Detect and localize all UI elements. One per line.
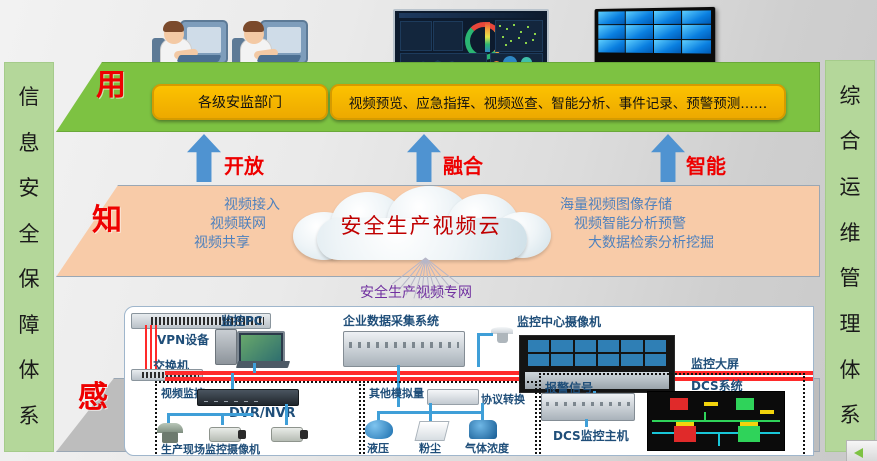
cloud-left-item-0: 视频接入 — [120, 196, 280, 215]
wire-dvr-uplink — [231, 373, 234, 389]
corner-marker — [846, 440, 877, 461]
wire-monitor-pc — [253, 363, 256, 373]
cloud-capabilities-right: 海量视频图像存储 视频智能分析预警 大数据检索分析挖掘 — [560, 196, 800, 253]
label-vpn-device: VPN设备 — [157, 331, 209, 348]
sidebar-right-char-0: 综 — [840, 86, 861, 107]
sidebar-right-char-1: 合 — [840, 131, 861, 152]
cloud-right-item-1: 视频智能分析预警 — [574, 215, 800, 234]
arrow-fusion-icon — [407, 134, 441, 182]
cloud-label-video-cloud: 安全生产视频云 — [287, 210, 555, 240]
wire-center-camera-down — [477, 333, 480, 367]
label-sensor-hydraulic: 液压 — [367, 440, 389, 456]
arrow-label-fusion: 融合 — [443, 150, 483, 179]
box-safety-supervision-departments[interactable]: 各级安监部门 — [152, 84, 328, 120]
sidebar-left-char-1: 息 — [19, 133, 40, 154]
operator-illustration-1 — [152, 14, 224, 66]
label-sensor-dust: 粉尘 — [419, 440, 441, 456]
cloud-capabilities-left: 视频接入 视频联网 视频共享 — [120, 196, 280, 253]
layer-tag-use: 用 — [96, 60, 126, 104]
operator-illustration-2 — [232, 14, 304, 66]
wire-camera-3 — [285, 404, 288, 425]
label-site-cameras: 生产现场监控摄像机 — [161, 441, 260, 456]
cloud-left-item-2: 视频共享 — [120, 234, 250, 253]
dcs-pipe — [652, 420, 780, 422]
wire-sensor-2 — [429, 403, 432, 423]
protocol-converter-icon — [427, 389, 479, 405]
sidebar-right-char-7: 系 — [840, 405, 861, 426]
dashboard-titlebar — [399, 13, 543, 18]
label-enterprise-collector: 企业数据采集系统 — [343, 312, 439, 329]
operator-hair — [243, 21, 264, 32]
center-camera-icon — [491, 327, 513, 343]
sidebar-left-char-2: 安 — [19, 178, 40, 199]
arrow-label-intelligent: 智能 — [686, 150, 726, 179]
layer-tag-know: 知 — [92, 195, 122, 239]
cloud-left-item-1: 视频联网 — [120, 215, 266, 234]
label-center-camera: 监控中心摄像机 — [517, 313, 601, 330]
operator-hair — [163, 21, 184, 32]
sidebar-left-char-3: 全 — [19, 224, 40, 245]
enterprise-collector-server-icon — [343, 331, 465, 367]
red-trunk-line — [150, 325, 152, 371]
play-triangle-icon — [854, 448, 863, 458]
dashboard-heatmap-points — [497, 22, 539, 48]
dcs-tag — [704, 402, 718, 406]
dashboard-table-panel-right — [433, 21, 463, 51]
sidebar-right-char-6: 体 — [840, 360, 861, 381]
label-protocol-converter: 协议转换 — [481, 391, 525, 407]
label-monitor-pc: 监控PC — [221, 312, 263, 329]
sidebar-right-char-5: 理 — [840, 314, 861, 335]
dcs-system-screenshot — [647, 391, 785, 451]
dcs-unit-green — [738, 426, 760, 442]
dome-camera-icon — [157, 423, 183, 443]
cloud-right-item-2: 大数据检索分析挖掘 — [588, 234, 800, 253]
bigscreen-video-cells — [528, 340, 667, 365]
monitor-pc-tower-icon — [215, 329, 237, 365]
dvr-nvr-icon — [197, 389, 299, 406]
dashboard-color-scale — [485, 22, 490, 52]
monitor-pc-keyboard-icon — [236, 361, 290, 368]
infrastructure-panel: VPN设备 交换机 监控PC 企业数据采集系统 监控中心摄像机 — [124, 306, 814, 456]
sidebar-right-char-3: 维 — [840, 223, 861, 244]
operator-keyboard — [257, 55, 302, 62]
bullet-camera-icon-1 — [209, 427, 241, 442]
wire-dvr-to-cameras — [167, 413, 253, 416]
sidebar-left-char-7: 系 — [19, 406, 40, 427]
bullet-camera-icon-2 — [271, 427, 303, 442]
architecture-diagram: 信 息 安 全 保 障 体 系 综 合 运 维 管 理 体 系 — [0, 0, 877, 461]
label-big-screen: 监控大屏 — [691, 355, 739, 372]
label-analog-signals: 其他模拟量 — [369, 385, 424, 401]
sidebar-left-char-0: 信 — [19, 87, 40, 108]
sidebar-information-security-system: 信 息 安 全 保 障 体 系 — [4, 62, 54, 452]
sidebar-operation-maintenance-system: 综 合 运 维 管 理 体 系 — [825, 60, 875, 452]
label-dcs-host: DCS监控主机 — [553, 427, 629, 444]
arrow-intelligent-icon — [651, 134, 685, 182]
label-sensor-gas: 气体浓度 — [465, 440, 509, 456]
sidebar-left-char-5: 障 — [19, 315, 40, 336]
wire-dcs-host — [585, 419, 588, 427]
dcs-vessel-red — [670, 398, 688, 410]
sidebar-left-char-6: 体 — [19, 360, 40, 381]
video-wall-panels — [598, 10, 711, 53]
dcs-tag — [676, 422, 694, 426]
dust-sensor-icon — [415, 421, 450, 441]
dcs-line — [704, 412, 706, 422]
layer-tag-sense: 感 — [78, 372, 108, 416]
dashboard-table-panel-left — [400, 21, 432, 51]
dcs-tag — [740, 422, 758, 426]
cloud-shape-video-cloud: 安全生产视频云 — [287, 186, 555, 262]
dcs-tag — [760, 410, 774, 414]
sidebar-right-char-4: 管 — [840, 268, 861, 289]
dcs-pipe — [652, 432, 780, 434]
dcs-unit-red — [674, 426, 696, 442]
box-application-functions[interactable]: 视频预览、应急指挥、视频巡查、智能分析、事件记录、预警预测…… — [330, 84, 786, 120]
wire-camera-2 — [221, 413, 224, 425]
sidebar-left-char-4: 保 — [19, 269, 40, 290]
sidebar-right-char-2: 运 — [840, 177, 861, 198]
arrow-open-icon — [187, 134, 221, 182]
label-private-video-network: 安全生产视频专网 — [360, 282, 472, 302]
monitor-pc-display-icon — [237, 331, 285, 365]
operator-keyboard — [177, 55, 222, 62]
gas-sensor-icon — [469, 420, 497, 439]
red-trunk-line — [145, 325, 147, 371]
dcs-host-server-icon — [541, 393, 635, 421]
dcs-vessel-green — [736, 398, 754, 410]
cloud-right-item-0: 海量视频图像存储 — [560, 196, 800, 215]
dcs-line — [718, 434, 720, 446]
arrow-label-open: 开放 — [224, 150, 264, 179]
hydraulic-sensor-icon — [365, 420, 393, 439]
